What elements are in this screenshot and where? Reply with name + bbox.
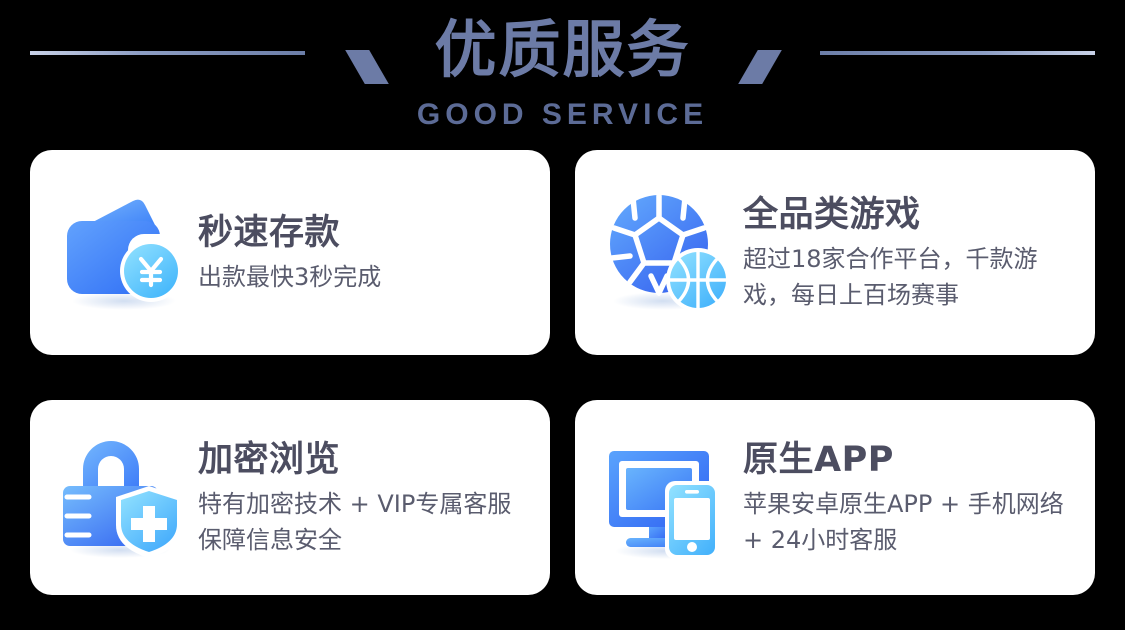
card-title: 秒速存款 xyxy=(198,211,381,255)
banner-header: 优质服务 GOOD SERVICE xyxy=(0,0,1125,140)
wallet-yen-icon xyxy=(58,188,188,318)
card-title: 全品类游戏 xyxy=(743,193,1079,237)
card-description: 出款最快3秒完成 xyxy=(198,259,381,295)
header-rule-right xyxy=(820,51,1095,55)
good-service-banner: 优质服务 GOOD SERVICE xyxy=(0,0,1125,630)
feature-card-text: 加密浏览 特有加密技术 + VIP专属客服保障信息安全 xyxy=(198,438,534,558)
card-description: 超过18家合作平台，千款游戏，每日上百场赛事 xyxy=(743,241,1079,313)
feature-card-text: 原生APP 苹果安卓原生APP + 手机网络 + 24小时客服 xyxy=(743,438,1079,558)
page-title: 优质服务 xyxy=(0,10,1125,90)
soccer-basketball-icon xyxy=(603,188,733,318)
card-description: 苹果安卓原生APP + 手机网络 + 24小时客服 xyxy=(743,486,1079,558)
monitor-phone-icon xyxy=(603,433,733,563)
card-title: 加密浏览 xyxy=(198,438,534,482)
card-title: 原生APP xyxy=(743,438,1079,482)
feature-card-text: 秒速存款 出款最快3秒完成 xyxy=(198,211,381,295)
feature-card-encrypted-browsing[interactable]: 加密浏览 特有加密技术 + VIP专属客服保障信息安全 xyxy=(30,400,550,595)
lock-shield-icon xyxy=(58,433,188,563)
feature-card-grid: 秒速存款 出款最快3秒完成 xyxy=(30,150,1095,595)
feature-card-native-app[interactable]: 原生APP 苹果安卓原生APP + 手机网络 + 24小时客服 xyxy=(575,400,1095,595)
card-description: 特有加密技术 + VIP专属客服保障信息安全 xyxy=(198,486,534,558)
page-subtitle: GOOD SERVICE xyxy=(0,98,1125,132)
feature-card-text: 全品类游戏 超过18家合作平台，千款游戏，每日上百场赛事 xyxy=(743,193,1079,313)
feature-card-instant-deposit[interactable]: 秒速存款 出款最快3秒完成 xyxy=(30,150,550,355)
feature-card-all-game-categories[interactable]: 全品类游戏 超过18家合作平台，千款游戏，每日上百场赛事 xyxy=(575,150,1095,355)
